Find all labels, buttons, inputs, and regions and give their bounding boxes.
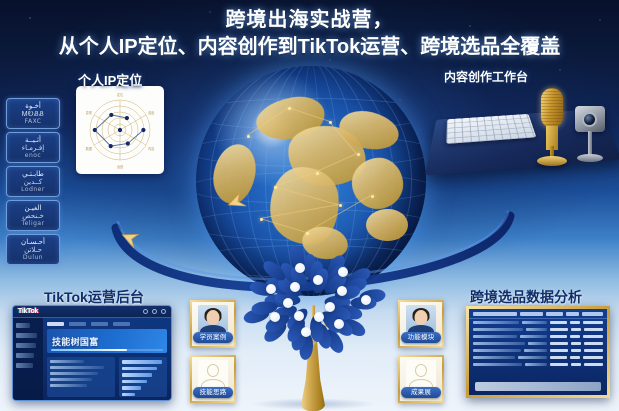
globe-network-node	[371, 195, 374, 198]
table-body	[469, 319, 607, 368]
progress-fill	[51, 349, 127, 351]
table-cell-text	[525, 363, 548, 366]
table-row[interactable]	[469, 347, 607, 354]
tiktok-bar-4	[122, 386, 140, 390]
progress-bar	[51, 349, 163, 351]
tiktok-nav-item-4[interactable]	[16, 363, 33, 368]
radar-data-point	[125, 116, 129, 120]
table-cell-text	[524, 349, 548, 352]
table-cell-sales	[550, 363, 567, 366]
table-cell-text	[528, 342, 547, 345]
table-cell-sales	[550, 321, 568, 324]
language-card-column: أخـوةᎷᎧᏰᏰFAXCأثـيــةإفـرمـاءenocطابـتـيك…	[6, 98, 60, 268]
tiktok-bar-2	[122, 373, 152, 377]
tiktok-tabs[interactable]	[47, 322, 167, 326]
ip-positioning-radar-card: 定位选品内容运营数据变现	[76, 86, 164, 174]
tree-node	[314, 312, 324, 322]
table-cell-margin	[583, 356, 603, 359]
tiktok-bar-5	[122, 393, 134, 397]
table-cell-rating	[571, 363, 581, 366]
table-row[interactable]	[469, 354, 607, 361]
radar-axis-label: 内容	[148, 146, 155, 151]
title-line-2: 从个人IP定位、内容创作到TikTok运营、跨境选品全覆盖	[0, 34, 619, 60]
table-cell-margin	[583, 321, 603, 324]
portrait-card-3[interactable]: 成果展	[398, 355, 444, 403]
tiktok-dashboard-panel[interactable]: TikTok 技能树国富	[12, 305, 172, 401]
caption-tiktok-backend: TikTok运营后台	[44, 287, 144, 307]
table-cell-sales	[550, 349, 567, 352]
search-icon[interactable]	[143, 309, 148, 314]
radar-data-point	[126, 141, 130, 145]
table-cell-margin	[584, 342, 603, 345]
language-card-line2: حـلاتن	[24, 246, 42, 254]
tiktok-logo: TikTok	[18, 308, 38, 315]
table-column-header-1	[520, 312, 543, 316]
table-cell-text	[473, 335, 517, 338]
camera-stand-base	[577, 154, 603, 162]
tiktok-hero-title: 技能树国富	[52, 335, 99, 348]
radar-data-point	[93, 128, 97, 132]
tiktok-list-card	[47, 357, 115, 397]
language-card-3: الغيـنخـنحصTeligar	[6, 200, 60, 231]
portrait-label-2: 功能模块	[401, 332, 441, 343]
table-cell-sales	[550, 335, 568, 338]
globe-network-node	[274, 186, 277, 189]
table-cell-rating	[570, 356, 580, 359]
language-card-line1: الغيـن	[25, 204, 42, 212]
table-cell-sales	[550, 342, 567, 345]
language-card-line3: Dulun	[23, 254, 43, 262]
portrait-label-1: 技能思路	[193, 387, 233, 398]
tiktok-tab-2[interactable]	[91, 322, 108, 326]
tree-node	[290, 282, 300, 292]
poster-canvas: 跨境出海实战营， 从个人IP定位、内容创作到TikTok运营、跨境选品全覆盖 个…	[0, 0, 619, 411]
tiktok-nav-item-1[interactable]	[16, 333, 37, 338]
globe-network-node	[247, 135, 250, 138]
product-data-table-panel[interactable]	[466, 306, 610, 398]
language-card-line3: FAXC	[25, 118, 42, 126]
table-cell-rating	[570, 335, 580, 338]
language-card-line2: ᎷᎧᏰᏰ	[22, 110, 44, 118]
tiktok-nav-item-3[interactable]	[16, 353, 34, 358]
globe-network-node	[316, 172, 319, 175]
portrait-head	[415, 364, 427, 377]
table-cell-text	[520, 335, 546, 338]
tiktok-sidebar[interactable]	[13, 318, 43, 401]
table-row[interactable]	[469, 326, 607, 333]
radar-data-point	[109, 113, 113, 117]
portrait-card-0[interactable]: 学员案例	[190, 300, 236, 348]
tiktok-list-row-0	[50, 360, 84, 363]
portrait-card-1[interactable]: 技能思路	[190, 355, 236, 403]
radar-data-point	[141, 128, 145, 132]
language-card-line3: enoc	[25, 152, 41, 160]
language-card-1: أثـيــةإفـرمـاءenoc	[6, 132, 60, 163]
table-cell-rating	[571, 349, 581, 352]
language-card-line3: Teligar	[21, 220, 44, 228]
tiktok-nav-item-0[interactable]	[16, 323, 30, 328]
table-footer-bar	[475, 382, 601, 391]
tree-node	[334, 319, 344, 329]
camera-body	[575, 106, 605, 132]
caption-data-analysis: 跨境选品数据分析	[470, 287, 582, 307]
microphone-base	[537, 156, 567, 166]
tiktok-bar-3	[122, 380, 146, 384]
table-cell-text	[473, 328, 523, 331]
microphone-icon	[535, 88, 569, 172]
language-card-line2: كــدين	[24, 178, 42, 186]
table-column-header-2	[546, 312, 563, 316]
radar-data-point	[109, 144, 113, 148]
skill-tree-illustration	[243, 250, 383, 411]
radar-axis-label: 选品	[148, 110, 154, 115]
tiktok-body: 技能树国富	[13, 318, 171, 401]
tiktok-tab-3[interactable]	[113, 322, 130, 326]
tiktok-nav-item-2[interactable]	[16, 343, 36, 348]
tiktok-tab-0[interactable]	[47, 322, 64, 326]
tiktok-list-row-2	[50, 372, 98, 375]
table-column-header-0	[473, 312, 517, 316]
tree-node	[338, 267, 348, 277]
camera-icon	[575, 106, 607, 168]
radar-axis-label: 定位	[117, 92, 124, 97]
language-card-2: طابـتـيكــدينLodner	[6, 166, 60, 197]
radar-axis-label: 变现	[86, 110, 93, 115]
table-row[interactable]	[469, 340, 607, 347]
microphone-head	[541, 88, 563, 128]
language-card-line3: Lodner	[21, 186, 45, 194]
camera-lens	[582, 112, 597, 127]
table-cell-text	[473, 356, 515, 359]
table-cell-text	[473, 349, 521, 352]
tiktok-main: 技能树国富	[43, 318, 171, 401]
table-cell-text	[473, 363, 522, 366]
table-cell-text	[526, 328, 548, 331]
portrait-head	[415, 310, 428, 325]
tiktok-list-row-4	[50, 384, 87, 387]
radar-data-point	[118, 128, 122, 132]
gear-icon[interactable]	[152, 309, 157, 314]
tiktok-topbar: TikTok	[13, 306, 171, 318]
radar-axis-label: 数据	[86, 146, 93, 151]
table-cell-margin	[584, 363, 603, 366]
table-row[interactable]	[469, 319, 607, 326]
language-card-line2: إفـرمـاء	[22, 144, 44, 152]
table-cell-rating	[571, 328, 581, 331]
tiktok-bar-0	[122, 360, 162, 364]
language-card-line1: أثـيــة	[25, 136, 41, 144]
table-header-row	[469, 309, 607, 319]
tiktok-bar-1	[122, 367, 157, 371]
avatar[interactable]	[161, 309, 166, 314]
portrait-label-0: 学员案例	[193, 332, 233, 343]
globe-landmass	[366, 209, 407, 241]
table-column-header-4	[582, 312, 603, 316]
portrait-card-2[interactable]: 功能模块	[398, 300, 444, 348]
tiktok-cards	[47, 357, 167, 397]
tiktok-topbar-actions[interactable]	[143, 309, 166, 314]
table-cell-sales	[550, 356, 568, 359]
globe-network-node	[339, 204, 342, 207]
tiktok-list-row-1	[50, 366, 104, 369]
portrait-head	[207, 310, 220, 325]
table-row[interactable]	[469, 333, 607, 340]
table-cell-margin	[584, 349, 603, 352]
language-card-4: أحـسـانحـلاتنDulun	[6, 234, 60, 265]
radar-chart-icon: 定位选品内容运营数据变现	[76, 86, 164, 174]
portrait-label-3: 成果展	[401, 387, 441, 398]
table-row[interactable]	[469, 361, 607, 368]
language-card-line2: خـنحص	[22, 212, 44, 220]
table-cell-rating	[571, 342, 581, 345]
table-cell-margin	[583, 335, 603, 338]
tree-node	[361, 295, 371, 305]
language-card-0: أخـوةᎷᎧᏰᏰFAXC	[6, 98, 60, 129]
content-studio-illustration	[427, 82, 617, 190]
table-cell-text	[522, 321, 546, 324]
table-cell-text	[518, 356, 547, 359]
radar-axis-label: 运营	[117, 164, 123, 169]
table-cell-text	[473, 342, 525, 345]
caption-ip-positioning: 个人IP定位	[78, 70, 142, 89]
title-line-1: 跨境出海实战营，	[0, 8, 619, 32]
tree-node	[295, 263, 305, 273]
tiktok-hero-banner: 技能树国富	[47, 329, 167, 353]
tree-node	[301, 327, 311, 337]
language-card-line1: طابـتـي	[22, 170, 44, 178]
caption-content-studio: 内容创作工作台	[444, 68, 528, 85]
tiktok-bar-chart-card	[119, 357, 167, 397]
poster-title: 跨境出海实战营， 从个人IP定位、内容创作到TikTok运营、跨境选品全覆盖	[0, 8, 619, 60]
table-cell-text	[473, 321, 519, 324]
table-cell-margin	[584, 328, 603, 331]
tiktok-tab-1[interactable]	[69, 322, 86, 326]
tree-node	[266, 284, 276, 294]
language-card-line1: أخـوة	[25, 102, 41, 110]
tree-node	[337, 286, 347, 296]
tiktok-list-row-3	[50, 378, 92, 381]
portrait-head	[207, 364, 219, 377]
table-column-header-3	[566, 312, 579, 316]
table-cell-sales	[550, 328, 567, 331]
table-cell-rating	[570, 321, 580, 324]
tree-node	[283, 298, 293, 308]
language-card-line1: أحـسـان	[21, 238, 45, 246]
